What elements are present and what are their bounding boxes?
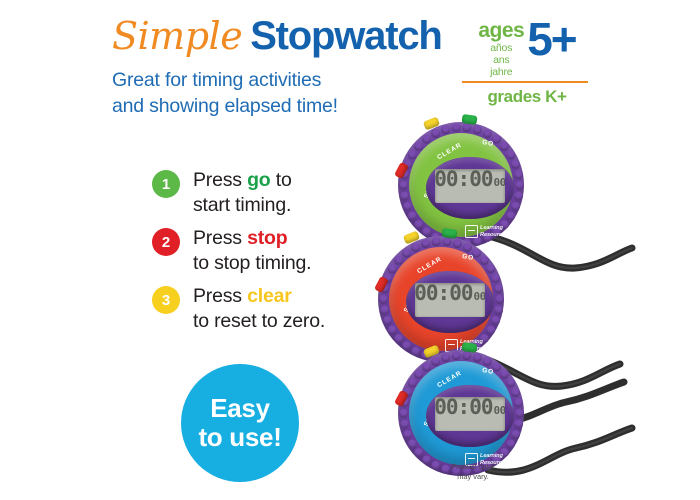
stopwatch-face: STOP CLEAR GO 00:0000 Learning Resources: [389, 247, 493, 351]
grip-tooth: [441, 125, 450, 134]
grip-tooth: [482, 357, 491, 366]
grip-tooth: [499, 369, 508, 378]
grip-tooth: [379, 305, 388, 314]
grip-tooth: [486, 325, 495, 334]
grip-tooth: [494, 305, 503, 314]
lcd-sub-green: 00: [493, 177, 505, 188]
lcd-main-red: 00:00: [415, 283, 472, 304]
step-keyword-2: stop: [247, 227, 287, 249]
grip-tooth: [472, 353, 481, 362]
product-infographic: SimpleStopwatch Great for timing activit…: [0, 0, 700, 500]
grades-label: grades K+: [462, 87, 592, 107]
grip-tooth: [514, 170, 523, 179]
grip-tooth: [451, 351, 460, 360]
stopwatch-face: STOP CLEAR GO 00:0000 Learning Resources: [409, 133, 513, 237]
grip-tooth: [441, 353, 450, 362]
grip-tooth: [482, 129, 491, 138]
grip-tooth: [387, 325, 396, 334]
lcd-bezel: 00:0000: [426, 385, 514, 447]
grip-tooth: [407, 439, 416, 448]
grip-tooth: [399, 409, 408, 418]
go-button-green[interactable]: [461, 114, 477, 125]
grip-tooth: [379, 295, 388, 304]
grip-tooth: [431, 129, 440, 138]
grip-tooth: [511, 160, 520, 169]
age-value: 5+: [527, 18, 575, 60]
title-script-word: Simple: [112, 14, 242, 58]
grip-tooth: [394, 255, 403, 264]
grip-tooth: [514, 191, 523, 200]
grip-tooth: [402, 201, 411, 210]
step-item: 3 Press clear to reset to zero.: [152, 284, 387, 333]
grip-tooth: [411, 243, 420, 252]
grip-tooth: [399, 181, 408, 190]
step-item: 2 Press stop to stop timing.: [152, 226, 387, 275]
disclaimer-line-1: Product color: [418, 462, 528, 472]
grip-tooth: [414, 448, 423, 457]
grip-tooth: [382, 315, 391, 324]
grip-tooth: [422, 227, 431, 236]
grip-tooth: [515, 181, 524, 190]
grip-tooth: [511, 388, 520, 397]
grip-tooth: [494, 284, 503, 293]
go-label-green: GO: [481, 139, 494, 148]
grip-tooth: [491, 274, 500, 283]
lcd-main-green: 00:00: [435, 169, 492, 190]
ages-badge: ages años ans jahre 5+ grades K+: [462, 18, 592, 107]
subtitle-line-2: and showing elapsed time!: [112, 93, 452, 119]
step-line2-3: to reset to zero.: [193, 309, 325, 334]
subtitle: Great for timing activities and showing …: [112, 67, 452, 120]
grip-tooth: [514, 398, 523, 407]
lcd-sub-blue: 00: [493, 405, 505, 416]
stopwatch-blue: STOP CLEAR GO 00:0000 Learning Resources: [398, 350, 524, 476]
grip-tooth: [462, 243, 471, 252]
product-image-group: STOP CLEAR GO 00:0000 Learning Resources: [370, 118, 700, 500]
easy-badge-line-1: Easy: [210, 394, 270, 423]
grip-tooth: [394, 334, 403, 343]
step-keyword-3: clear: [247, 285, 292, 307]
step-item: 1 Press go to start timing.: [152, 168, 387, 217]
grip-tooth: [486, 264, 495, 273]
grip-tooth: [506, 211, 515, 220]
grip-tooth: [514, 419, 523, 428]
disclaimer-line-2: may vary.: [418, 472, 528, 482]
grip-tooth: [431, 237, 440, 246]
go-button-red[interactable]: [441, 228, 457, 239]
grip-tooth: [399, 419, 408, 428]
title-bold-word: Stopwatch: [250, 14, 441, 58]
grip-tooth: [506, 150, 515, 159]
grip-tooth: [414, 141, 423, 150]
easy-to-use-badge: Easy to use!: [181, 364, 299, 482]
grip-tooth: [422, 134, 431, 143]
ages-alt-spanish: años: [478, 43, 524, 55]
grip-tooth: [414, 369, 423, 378]
step-keyword-1: go: [247, 169, 270, 191]
grip-tooth: [407, 211, 416, 220]
grip-tooth: [452, 239, 461, 248]
lcd-sub-red: 00: [473, 291, 485, 302]
grip-tooth: [421, 239, 430, 248]
step-line2-1: start timing.: [193, 193, 292, 218]
grip-tooth: [515, 409, 524, 418]
lcd-display-green: 00:0000: [435, 169, 505, 203]
grip-tooth: [402, 341, 411, 350]
go-label-red: GO: [461, 253, 474, 262]
grip-tooth: [431, 357, 440, 366]
lcd-bezel: 00:0000: [426, 157, 514, 219]
subtitle-line-1: Great for timing activities: [112, 67, 452, 93]
page-title: SimpleStopwatch: [112, 16, 452, 56]
step-number-badge-2: 2: [152, 228, 180, 256]
grip-tooth: [506, 378, 515, 387]
lcd-main-blue: 00:00: [435, 397, 492, 418]
grip-tooth: [495, 295, 504, 304]
ages-alt-german: jahre: [478, 67, 524, 79]
ages-text-group: ages años ans jahre: [478, 18, 524, 78]
grip-tooth: [506, 439, 515, 448]
stopwatch-green: STOP CLEAR GO 00:0000 Learning Resources: [398, 122, 524, 248]
easy-badge-line-2: to use!: [198, 423, 281, 452]
grip-tooth: [414, 220, 423, 229]
step-number-badge-1: 1: [152, 170, 180, 198]
step-number-badge-3: 3: [152, 286, 180, 314]
go-button-blue[interactable]: [461, 342, 477, 353]
stopwatch-red: STOP CLEAR GO 00:0000 Learning Resources: [378, 236, 504, 362]
step-text-3: Press clear to reset to zero.: [193, 284, 325, 333]
grip-tooth: [402, 429, 411, 438]
ages-alt-languages: años ans jahre: [478, 43, 524, 78]
ages-alt-french: ans: [478, 55, 524, 67]
grip-tooth: [387, 264, 396, 273]
grip-tooth: [499, 141, 508, 150]
ages-divider: [462, 81, 588, 83]
ages-row: ages años ans jahre 5+: [462, 18, 592, 78]
step-prefix-3: Press: [193, 285, 247, 307]
step-suffix-1: to: [271, 169, 292, 191]
instruction-steps: 1 Press go to start timing. 2 Press stop…: [152, 168, 387, 342]
grip-tooth: [472, 125, 481, 134]
ages-label: ages: [478, 20, 524, 41]
grip-tooth: [399, 191, 408, 200]
title-block: SimpleStopwatch Great for timing activit…: [112, 16, 452, 120]
lcd-display-red: 00:0000: [415, 283, 485, 317]
step-prefix-2: Press: [193, 227, 247, 249]
product-disclaimer: Product color may vary.: [418, 462, 528, 481]
stopwatch-face: STOP CLEAR GO 00:0000 Learning Resources: [409, 361, 513, 465]
go-label-blue: GO: [481, 367, 494, 376]
step-text-1: Press go to start timing.: [193, 168, 292, 217]
step-line2-2: to stop timing.: [193, 251, 311, 276]
grip-tooth: [491, 315, 500, 324]
grip-tooth: [407, 378, 416, 387]
lcd-display-blue: 00:0000: [435, 397, 505, 431]
grip-tooth: [511, 201, 520, 210]
grip-tooth: [402, 248, 411, 257]
grip-tooth: [479, 255, 488, 264]
grip-tooth: [451, 123, 460, 132]
grip-tooth: [511, 429, 520, 438]
lcd-bezel: 00:0000: [406, 271, 494, 333]
step-text-2: Press stop to stop timing.: [193, 226, 311, 275]
grip-tooth: [407, 150, 416, 159]
grip-tooth: [422, 362, 431, 371]
step-prefix-1: Press: [193, 169, 247, 191]
